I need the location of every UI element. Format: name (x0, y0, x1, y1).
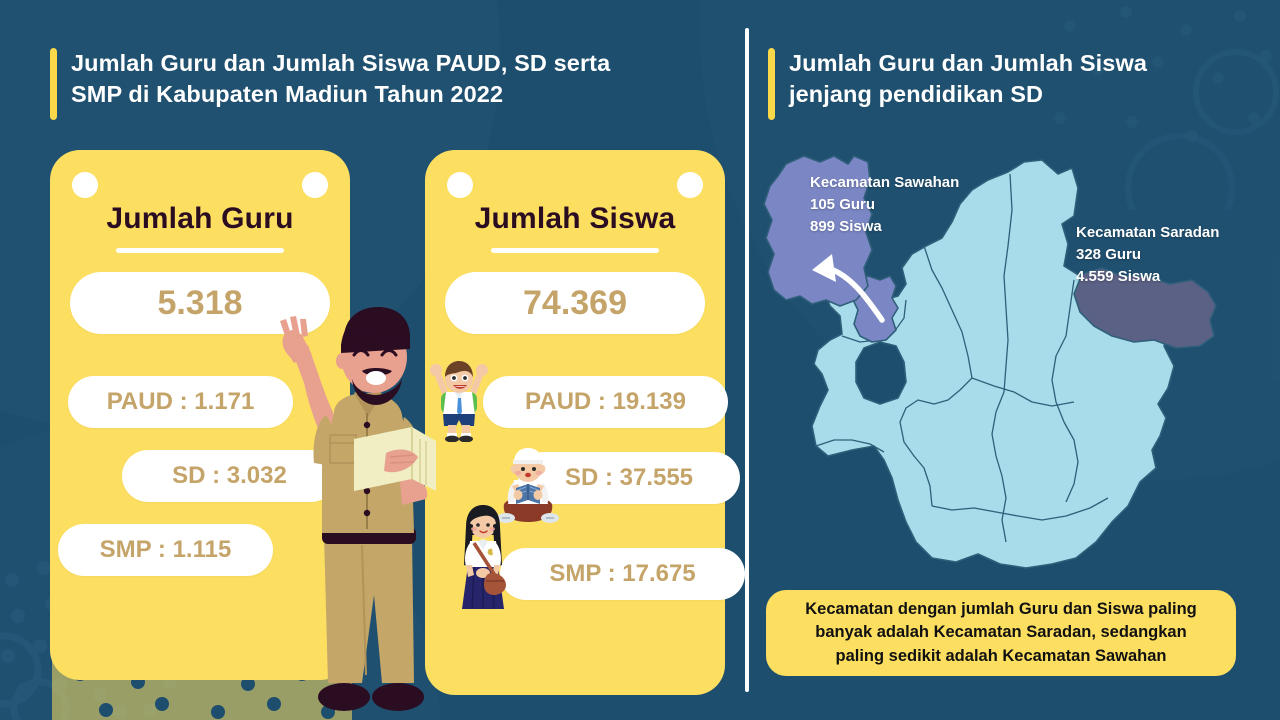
card-siswa-row-paud: PAUD : 19.139 (483, 376, 728, 428)
card-punch-hole-left (72, 172, 98, 198)
card-punch-hole-right (677, 172, 703, 198)
right-panel-title: Jumlah Guru dan Jumlah Siswa jenjang pen… (768, 48, 1238, 120)
card-guru-row-paud: PAUD : 1.171 (68, 376, 293, 428)
title-accent-bar-left (50, 48, 57, 120)
map-enclave-dark (856, 342, 906, 404)
title-accent-bar-right (768, 48, 775, 120)
left-panel-title-text: Jumlah Guru dan Jumlah Siswa PAUD, SD se… (71, 48, 610, 120)
card-siswa-total-value: 74.369 (445, 272, 705, 334)
infographic-canvas: Jumlah Guru dan Jumlah Siswa PAUD, SD se… (0, 0, 1280, 720)
right-panel-title-text: Jumlah Guru dan Jumlah Siswa jenjang pen… (789, 48, 1147, 120)
card-jumlah-siswa: Jumlah Siswa 74.369 PAUD : 19.139 SD : 3… (425, 150, 725, 695)
panel-divider (745, 28, 749, 692)
card-jumlah-guru: Jumlah Guru 5.318 PAUD : 1.171 SD : 3.03… (50, 150, 350, 680)
card-guru-underline (116, 248, 284, 253)
card-siswa-title: Jumlah Siswa (425, 202, 725, 236)
card-punch-hole-left (447, 172, 473, 198)
left-panel-title: Jumlah Guru dan Jumlah Siswa PAUD, SD se… (50, 48, 710, 120)
map-label-saradan: Kecamatan Saradan 328 Guru 4.559 Siswa (1076, 222, 1219, 288)
card-siswa-row-smp: SMP : 17.675 (500, 548, 745, 600)
card-guru-title: Jumlah Guru (50, 202, 350, 236)
card-siswa-underline (491, 248, 659, 253)
map-summary-caption-text: Kecamatan dengan jumlah Guru dan Siswa p… (805, 598, 1197, 668)
map-label-sawahan: Kecamatan Sawahan 105 Guru 899 Siswa (810, 172, 959, 238)
card-punch-hole-right (302, 172, 328, 198)
map-summary-caption: Kecamatan dengan jumlah Guru dan Siswa p… (766, 590, 1236, 676)
card-siswa-row-sd: SD : 37.555 (518, 452, 740, 504)
card-guru-row-smp: SMP : 1.115 (58, 524, 273, 576)
card-guru-total-value: 5.318 (70, 272, 330, 334)
card-guru-row-sd: SD : 3.032 (122, 450, 337, 502)
